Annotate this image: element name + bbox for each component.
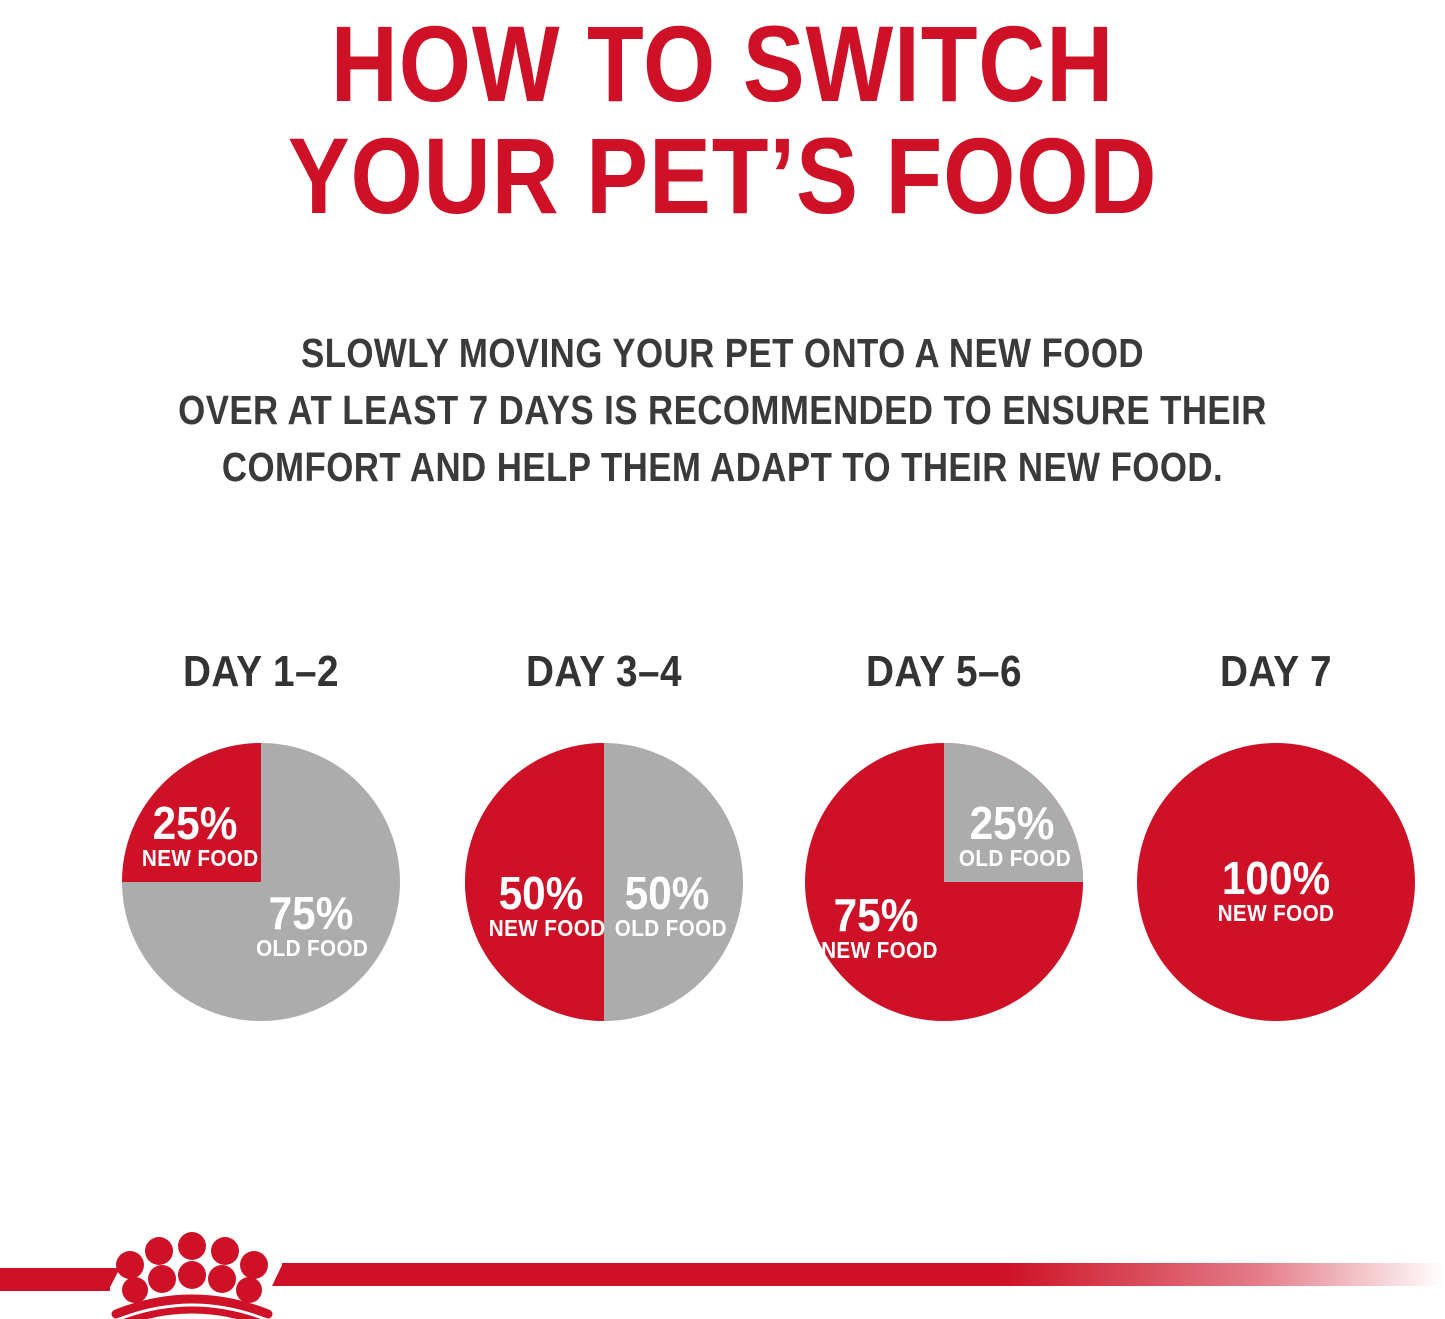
slice-pct-2b: 50% bbox=[614, 871, 721, 915]
slice-pct-3b: 75% bbox=[820, 893, 932, 937]
royal-canin-crown-logo bbox=[104, 1232, 280, 1319]
slice-sub-3a: OLD FOOD bbox=[959, 845, 1065, 871]
slice-label-new-food-4: 100% NEW FOOD bbox=[1206, 856, 1346, 926]
pie-graphic-3: 25% OLD FOOD 75% NEW FOOD bbox=[805, 743, 1083, 1021]
slice-sub-2b: OLD FOOD bbox=[615, 915, 719, 941]
pie-chart-day-3-4: DAY 3–4 50% NEW FOOD 50% OLD FOOD bbox=[454, 648, 754, 1048]
pie-chart-row: DAY 1–2 25% NEW FOOD 75% OLD FOOD DAY 3–… bbox=[0, 648, 1445, 1048]
slice-label-old-food-3: 25% OLD FOOD bbox=[953, 801, 1071, 871]
slice-sub-4a: NEW FOOD bbox=[1213, 900, 1339, 926]
pie-chart-day-5-6: DAY 5–6 25% OLD FOOD 75% NEW FOOD bbox=[794, 648, 1094, 1048]
slice-pct-1a: 25% bbox=[141, 801, 250, 845]
slice-sub-2a: NEW FOOD bbox=[489, 915, 593, 941]
title-line-1: HOW TO SWITCH bbox=[101, 8, 1344, 120]
slice-label-new-food-3: 75% NEW FOOD bbox=[815, 893, 937, 963]
subtitle: SLOWLY MOVING YOUR PET ONTO A NEW FOOD O… bbox=[0, 325, 1445, 496]
title-line-2: YOUR PET’S FOOD bbox=[101, 120, 1344, 232]
footer-bar-left bbox=[0, 1268, 110, 1291]
subtitle-line-1: SLOWLY MOVING YOUR PET ONTO A NEW FOOD bbox=[108, 325, 1336, 382]
slice-pct-2a: 50% bbox=[488, 871, 595, 915]
pie-chart-day-7: DAY 7 100% NEW FOOD bbox=[1126, 648, 1426, 1048]
slice-label-old-food-1: 75% OLD FOOD bbox=[250, 891, 372, 961]
slice-pct-1b: 75% bbox=[255, 891, 367, 935]
day-label-2: DAY 3–4 bbox=[472, 648, 736, 696]
slice-label-new-food-1: 25% NEW FOOD bbox=[136, 801, 254, 871]
infographic-page: HOW TO SWITCH YOUR PET’S FOOD SLOWLY MOV… bbox=[0, 0, 1445, 1319]
slice-label-old-food-2: 50% OLD FOOD bbox=[609, 871, 725, 941]
subtitle-line-3: COMFORT AND HELP THEM ADAPT TO THEIR NEW… bbox=[108, 439, 1336, 496]
slice-sub-1a: NEW FOOD bbox=[142, 845, 248, 871]
day-label-4: DAY 7 bbox=[1144, 648, 1408, 696]
slice-label-new-food-2: 50% NEW FOOD bbox=[483, 871, 599, 941]
slice-pct-3a: 25% bbox=[958, 801, 1067, 845]
footer-bar-right bbox=[282, 1263, 1445, 1286]
day-label-1: DAY 1–2 bbox=[129, 648, 393, 696]
slice-pct-4a: 100% bbox=[1212, 856, 1341, 900]
subtitle-line-2: OVER AT LEAST 7 DAYS IS RECOMMENDED TO E… bbox=[108, 382, 1336, 439]
pie-chart-day-1-2: DAY 1–2 25% NEW FOOD 75% OLD FOOD bbox=[111, 648, 411, 1048]
pie-graphic-1: 25% NEW FOOD 75% OLD FOOD bbox=[122, 743, 400, 1021]
footer-band bbox=[0, 1232, 1445, 1319]
pie-graphic-4: 100% NEW FOOD bbox=[1137, 743, 1415, 1021]
pie-graphic-2: 50% NEW FOOD 50% OLD FOOD bbox=[465, 743, 743, 1021]
slice-sub-1b: OLD FOOD bbox=[256, 935, 366, 961]
page-title: HOW TO SWITCH YOUR PET’S FOOD bbox=[0, 8, 1445, 232]
slice-sub-3b: NEW FOOD bbox=[821, 937, 931, 963]
day-label-3: DAY 5–6 bbox=[812, 648, 1076, 696]
